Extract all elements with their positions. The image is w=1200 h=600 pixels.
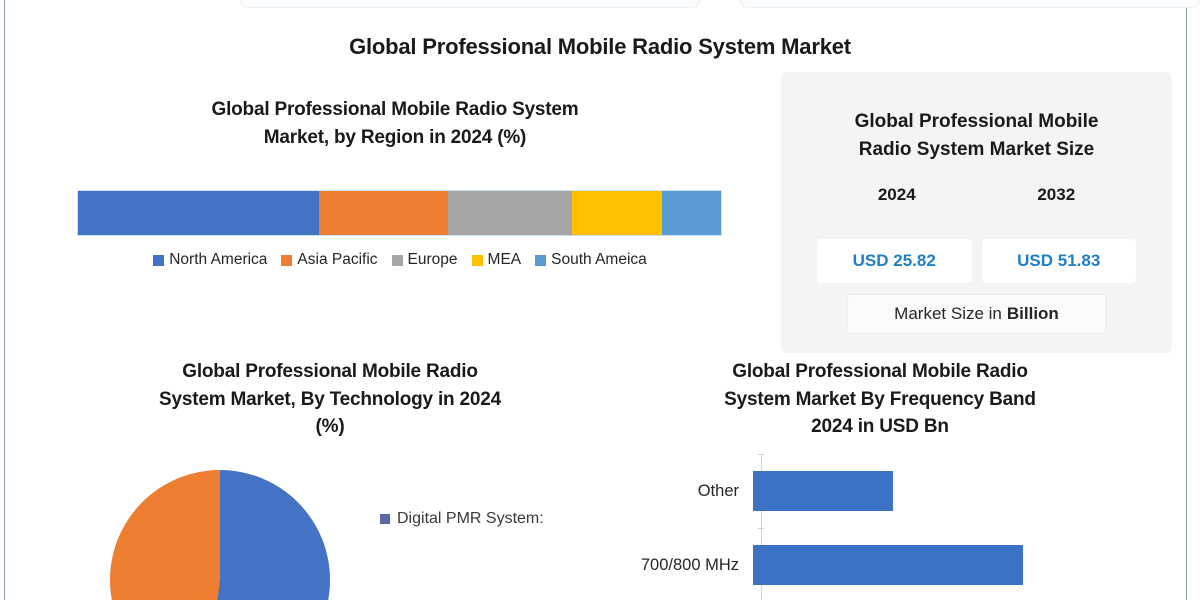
frequency-chart-title-line3: 2024 in USD Bn xyxy=(620,413,1140,441)
market-size-footer-prefix: Market Size in xyxy=(894,304,1002,324)
frequency-axis-tick xyxy=(758,528,764,529)
region-chart-title-line2: Market, by Region in 2024 (%) xyxy=(60,124,730,152)
technology-chart-title-line2: System Market, By Technology in 2024 xyxy=(60,386,600,414)
technology-chart-title: Global Professional Mobile Radio System … xyxy=(60,358,600,441)
frequency-axis-tick xyxy=(758,454,764,455)
frequency-bar xyxy=(753,471,893,511)
technology-legend-label: Digital PMR System: xyxy=(397,510,544,528)
region-legend-label: MEA xyxy=(488,251,522,269)
technology-pie-chart xyxy=(110,470,330,600)
market-size-panel: Global Professional Mobile Radio System … xyxy=(781,72,1172,353)
region-legend-item: South Ameica xyxy=(535,251,647,269)
page-border-left xyxy=(4,0,5,600)
region-legend-item: Asia Pacific xyxy=(281,251,377,269)
region-segment-south-ameica xyxy=(662,191,721,235)
page-border-right xyxy=(1186,0,1187,600)
page-title: Global Professional Mobile Radio System … xyxy=(0,34,1200,60)
top-panel-edge-left xyxy=(240,0,700,8)
frequency-bar-row: Other xyxy=(620,468,1100,514)
region-stacked-bar xyxy=(77,190,722,236)
region-legend-label: South Ameica xyxy=(551,251,647,269)
region-legend-swatch-icon xyxy=(472,255,483,266)
region-segment-north-america xyxy=(78,191,319,235)
region-legend-label: North America xyxy=(169,251,267,269)
technology-pie-wrap xyxy=(110,470,330,600)
region-legend-item: MEA xyxy=(472,251,522,269)
frequency-chart-title-line1: Global Professional Mobile Radio xyxy=(620,358,1140,386)
region-segment-mea xyxy=(572,191,662,235)
frequency-chart-title: Global Professional Mobile Radio System … xyxy=(620,358,1140,441)
market-size-footer-unit: Billion xyxy=(1007,304,1059,324)
region-chart-title: Global Professional Mobile Radio System … xyxy=(60,96,730,151)
region-chart-block: Global Professional Mobile Radio System … xyxy=(60,96,730,151)
region-legend-item: North America xyxy=(153,251,267,269)
region-legend-swatch-icon xyxy=(535,255,546,266)
market-year-start: 2024 xyxy=(817,185,977,205)
frequency-chart-title-line2: System Market By Frequency Band xyxy=(620,386,1140,414)
market-value-start: USD 25.82 xyxy=(817,239,972,283)
market-size-title: Global Professional Mobile Radio System … xyxy=(781,108,1172,163)
region-legend-label: Europe xyxy=(408,251,458,269)
region-legend-swatch-icon xyxy=(392,255,403,266)
market-size-values: USD 25.82 USD 51.83 xyxy=(817,239,1136,283)
region-legend-label: Asia Pacific xyxy=(297,251,377,269)
technology-chart-title-line1: Global Professional Mobile Radio xyxy=(60,358,600,386)
technology-legend: Digital PMR System: xyxy=(380,510,544,528)
region-legend-swatch-icon xyxy=(281,255,292,266)
market-size-title-line2: Radio System Market Size xyxy=(781,136,1172,164)
market-size-title-line1: Global Professional Mobile xyxy=(781,108,1172,136)
infographic-root: Global Professional Mobile Radio System … xyxy=(0,0,1200,600)
technology-chart-block: Global Professional Mobile Radio System … xyxy=(60,358,600,441)
frequency-chart-block: Global Professional Mobile Radio System … xyxy=(620,358,1140,441)
frequency-category-label: Other xyxy=(620,482,753,501)
region-legend-item: Europe xyxy=(392,251,458,269)
region-stacked-bar-wrap xyxy=(77,190,722,236)
region-chart-title-line1: Global Professional Mobile Radio System xyxy=(60,96,730,124)
frequency-bar-chart: Other700/800 MHz xyxy=(620,454,1100,600)
frequency-bar xyxy=(753,545,1023,585)
frequency-category-label: 700/800 MHz xyxy=(620,556,753,575)
region-segment-asia-pacific xyxy=(319,191,448,235)
technology-legend-swatch-icon xyxy=(380,514,390,524)
region-segment-europe xyxy=(448,191,572,235)
region-legend-swatch-icon xyxy=(153,255,164,266)
market-year-end: 2032 xyxy=(977,185,1137,205)
region-legend: North AmericaAsia PacificEuropeMEASouth … xyxy=(80,251,720,269)
frequency-bar-row: 700/800 MHz xyxy=(620,542,1100,588)
market-size-years: 2024 2032 xyxy=(817,185,1136,205)
market-value-end: USD 51.83 xyxy=(982,239,1137,283)
technology-chart-title-line3: (%) xyxy=(60,413,600,441)
market-size-footer: Market Size in Billion xyxy=(847,294,1106,334)
top-panel-edge-right xyxy=(740,0,1200,8)
